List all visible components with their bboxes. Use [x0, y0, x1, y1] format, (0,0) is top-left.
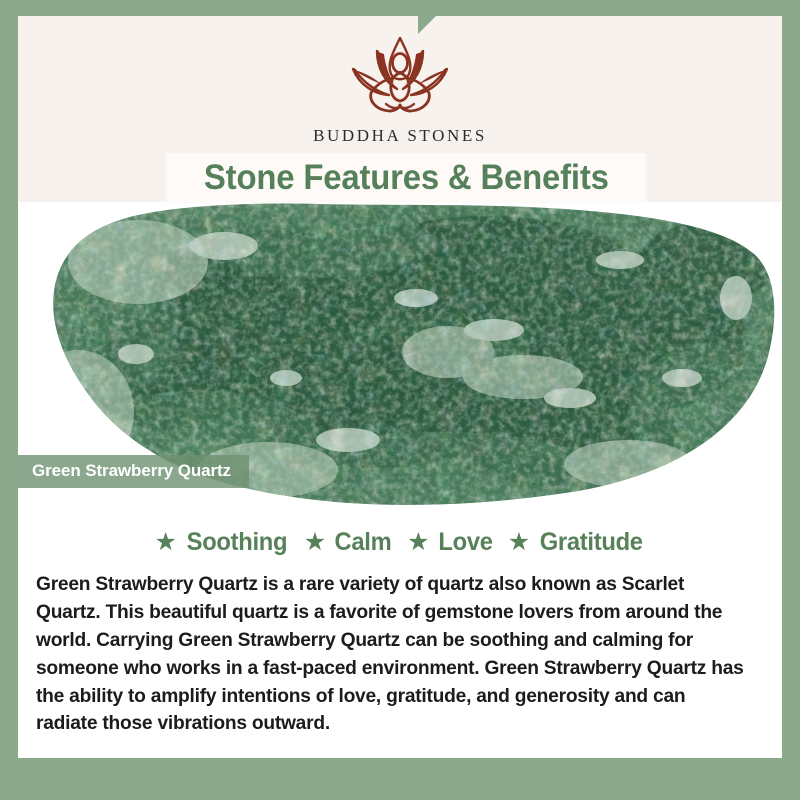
brand-name: BUDDHA STONES — [18, 126, 782, 146]
star-icon: ★ — [304, 530, 326, 555]
benefit-soothing: ★ Soothing — [154, 528, 289, 557]
title-plate: Stone Features & Benefits — [166, 153, 646, 203]
corner-notch-top-left — [0, 0, 452, 16]
lotus-meditation-icon — [337, 32, 463, 124]
description-paragraph: Green Strawberry Quartz is a rare variet… — [36, 571, 751, 738]
benefit-label: Soothing — [187, 528, 288, 557]
star-icon: ★ — [508, 530, 530, 555]
benefit-gratitude: ★ Gratitude — [508, 528, 646, 557]
benefits-row: ★ Soothing ★ Calm ★ Love ★ Gratitude — [18, 508, 782, 557]
benefit-label: Calm — [335, 528, 392, 557]
benefit-label: Love — [438, 528, 492, 557]
benefit-love: ★ Love — [407, 528, 494, 557]
star-icon: ★ — [407, 530, 429, 555]
brand-header: BUDDHA STONES — [18, 16, 782, 146]
frame-band-left — [0, 0, 18, 800]
corner-notch-bottom-right — [480, 758, 800, 800]
benefit-calm: ★ Calm — [304, 528, 393, 557]
star-icon: ★ — [154, 530, 176, 555]
frame-band-right — [782, 0, 800, 800]
page-sheet: BUDDHA STONES Stone Features & Benefits — [18, 16, 782, 758]
page-title: Stone Features & Benefits — [204, 158, 609, 198]
benefit-label: Gratitude — [540, 528, 643, 557]
body-panel: ★ Soothing ★ Calm ★ Love ★ Gratitude Gre… — [18, 508, 782, 758]
stone-photo: Green Strawberry Quartz — [18, 202, 782, 508]
infographic-root: BUDDHA STONES Stone Features & Benefits — [0, 0, 800, 800]
photo-caption: Green Strawberry Quartz — [18, 455, 249, 488]
